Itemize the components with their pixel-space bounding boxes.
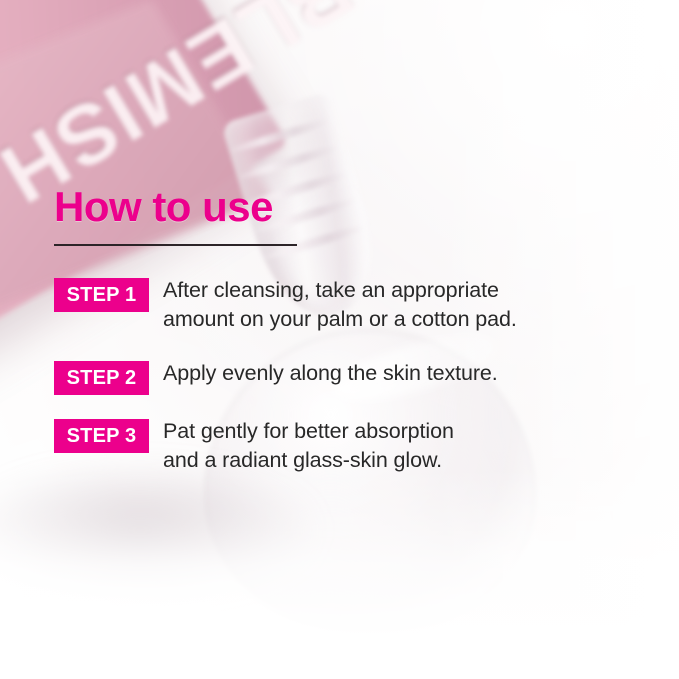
title-divider <box>54 244 297 246</box>
step-text-line: Apply evenly along the skin texture. <box>163 359 498 388</box>
step-text-line: After cleansing, take an appropriate <box>163 276 517 305</box>
step-item-2: STEP 2 Apply evenly along the skin textu… <box>54 359 654 395</box>
step-badge-1: STEP 1 <box>54 278 149 312</box>
steps-list: STEP 1 After cleansing, take an appropri… <box>54 276 654 474</box>
step-badge-2: STEP 2 <box>54 361 149 395</box>
step-item-1: STEP 1 After cleansing, take an appropri… <box>54 276 654 333</box>
step-text-3: Pat gently for better absorption and a r… <box>163 417 454 474</box>
page-title: How to use <box>54 186 654 228</box>
content-block: How to use STEP 1 After cleansing, take … <box>54 186 654 474</box>
step-text-line: amount on your palm or a cotton pad. <box>163 305 517 334</box>
step-text-line: Pat gently for better absorption <box>163 417 454 446</box>
step-item-3: STEP 3 Pat gently for better absorption … <box>54 417 654 474</box>
step-text-1: After cleansing, take an appropriate amo… <box>163 276 517 333</box>
how-to-use-panel: BLEMISH How to use STEP 1 After cleansin… <box>0 0 679 679</box>
step-text-line: and a radiant glass-skin glow. <box>163 446 454 475</box>
step-text-2: Apply evenly along the skin texture. <box>163 359 498 388</box>
step-badge-3: STEP 3 <box>54 419 149 453</box>
